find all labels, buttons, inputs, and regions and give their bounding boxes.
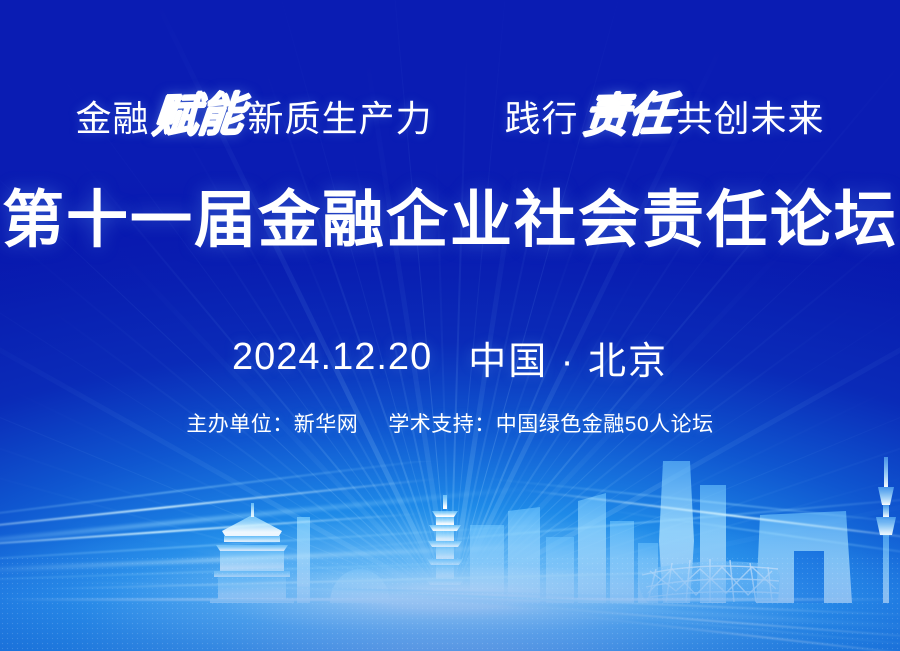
tagline-left-suffix: 新质生产力 — [247, 101, 432, 137]
organizer-bar: 主办单位：新华网 学术支持：中国绿色金融50人论坛 — [0, 408, 900, 438]
tagline-right-suffix: 共创未来 — [677, 101, 825, 137]
date-location-bar: 2024.12.20 中国 · 北京 — [0, 330, 900, 385]
organizer-academic-support: 学术支持：中国绿色金融50人论坛 — [388, 408, 713, 438]
tagline: 金融 赋能 新质生产力 践行 责任 共创未来 — [0, 92, 900, 138]
organizer-host: 主办单位：新华网 — [186, 408, 358, 438]
tagline-left-brush: 赋能 — [147, 91, 250, 140]
tagline-right-prefix: 践行 — [505, 101, 579, 137]
event-location: 中国 · 北京 — [468, 330, 668, 385]
tagline-left: 金融 赋能 新质生产力 — [75, 92, 432, 138]
conference-poster: 金融 赋能 新质生产力 践行 责任 共创未来 第十一届金融企业社会责任论坛 20… — [0, 0, 900, 651]
tagline-left-prefix: 金融 — [75, 101, 149, 137]
poster-content: 金融 赋能 新质生产力 践行 责任 共创未来 第十一届金融企业社会责任论坛 20… — [0, 0, 900, 651]
page-title: 第十一届金融企业社会责任论坛 — [0, 190, 900, 252]
tagline-right-brush: 责任 — [576, 91, 679, 140]
tagline-right: 践行 责任 共创未来 — [505, 92, 825, 138]
event-date: 2024.12.20 — [232, 336, 432, 379]
